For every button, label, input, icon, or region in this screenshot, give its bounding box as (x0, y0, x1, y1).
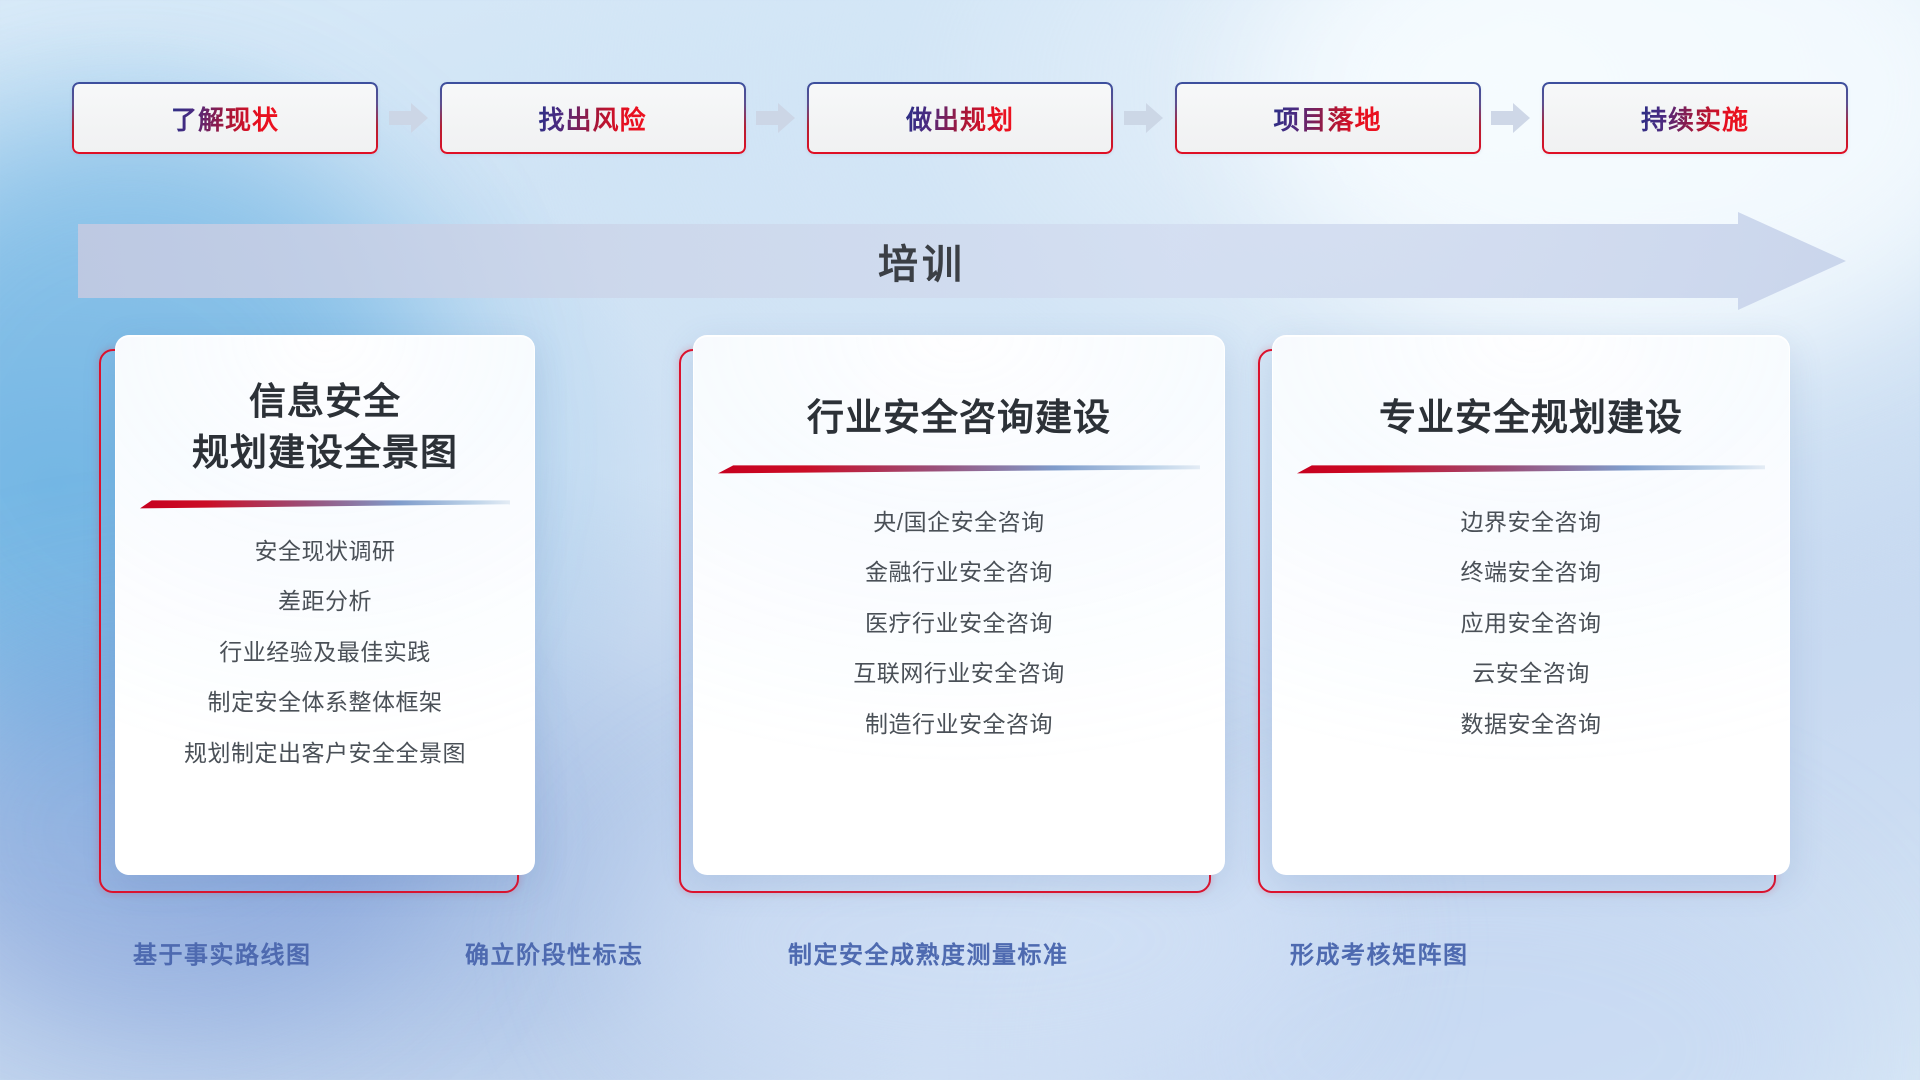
step-chip-label: 找出风险 (538, 100, 646, 137)
list-item: 差距分析 (278, 581, 372, 622)
list-item: 金融行业安全咨询 (865, 552, 1053, 593)
step-chip-label: 了解现状 (171, 100, 279, 137)
step-chip-label: 做出规划 (906, 100, 1014, 137)
capability-cards: 信息安全 规划建设全景图 (0, 335, 1920, 880)
list-item: 应用安全咨询 (1461, 603, 1602, 644)
list-item: 互联网行业安全咨询 (853, 653, 1065, 694)
step-chip-label: 项目落地 (1273, 100, 1381, 137)
training-banner: 培训 (78, 212, 1846, 310)
list-item: 央/国企安全咨询 (873, 502, 1044, 543)
list-item: 边界安全咨询 (1461, 502, 1602, 543)
list-item: 制定安全体系整体框架 (208, 682, 443, 723)
step-chip-3[interactable]: 项目落地 (1175, 82, 1481, 154)
list-item: 医疗行业安全咨询 (865, 603, 1053, 644)
step-chip-1[interactable]: 找出风险 (440, 82, 746, 154)
list-item: 云安全咨询 (1472, 653, 1590, 694)
arrow-right-icon (389, 101, 429, 135)
banner-title: 培训 (78, 212, 1846, 310)
card-divider (718, 465, 1200, 474)
list-item: 数据安全咨询 (1461, 704, 1602, 745)
card-item-list: 边界安全咨询 终端安全咨询 应用安全咨询 云安全咨询 数据安全咨询 (1273, 502, 1789, 745)
caption-2: 制定安全成熟度测量标准 (788, 935, 1069, 970)
card-body: 信息安全 规划建设全景图 (115, 335, 535, 875)
card-title: 行业安全咨询建设 (807, 392, 1111, 443)
list-item: 规划制定出客户安全全景图 (184, 733, 466, 774)
list-item: 行业经验及最佳实践 (219, 632, 431, 673)
arrow-right-icon (1124, 101, 1164, 135)
card-title: 专业安全规划建设 (1379, 392, 1683, 443)
card-2[interactable]: 专业安全规划建设 (1272, 335, 1790, 875)
step-chip-label: 持续实施 (1641, 100, 1749, 137)
outcome-captions: 基于事实路线图 确立阶段性标志 制定安全成熟度测量标准 形成考核矩阵图 (0, 935, 1920, 995)
caption-1: 确立阶段性标志 (465, 935, 644, 970)
card-item-list: 安全现状调研 差距分析 行业经验及最佳实践 制定安全体系整体框架 规划制定出客户… (116, 531, 534, 774)
slide-root: { "steps": { "items": [ { "label": "了解现状… (0, 0, 1920, 1080)
card-divider (1297, 465, 1765, 474)
list-item: 终端安全咨询 (1461, 552, 1602, 593)
card-0[interactable]: 信息安全 规划建设全景图 (115, 335, 535, 875)
arrow-right-icon (1491, 101, 1531, 135)
card-1[interactable]: 行业安全咨询建设 (693, 335, 1225, 875)
card-body: 专业安全规划建设 (1272, 335, 1790, 875)
arrow-right-icon (756, 101, 796, 135)
card-divider (140, 500, 510, 509)
card-body: 行业安全咨询建设 (693, 335, 1225, 875)
list-item: 制造行业安全咨询 (865, 704, 1053, 745)
step-chip-0[interactable]: 了解现状 (72, 82, 378, 154)
step-chip-4[interactable]: 持续实施 (1542, 82, 1848, 154)
caption-0: 基于事实路线图 (133, 935, 312, 970)
process-steps: 了解现状 找出风险 做出规划 项目落地 持续实施 (72, 82, 1848, 154)
card-title: 信息安全 规划建设全景图 (192, 376, 458, 478)
step-chip-2[interactable]: 做出规划 (807, 82, 1113, 154)
card-item-list: 央/国企安全咨询 金融行业安全咨询 医疗行业安全咨询 互联网行业安全咨询 制造行… (694, 502, 1224, 745)
list-item: 安全现状调研 (255, 531, 396, 572)
caption-3: 形成考核矩阵图 (1290, 935, 1469, 970)
